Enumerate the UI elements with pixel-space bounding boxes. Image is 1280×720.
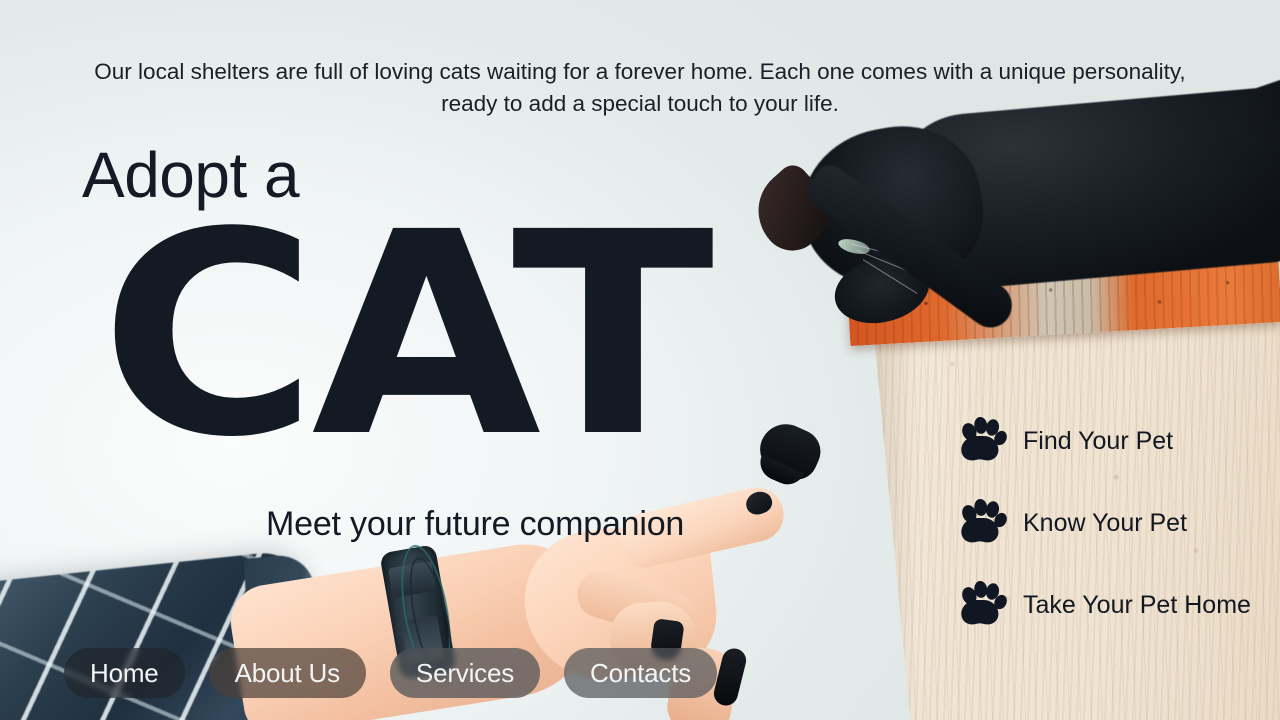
feature-item[interactable]: Find Your Pet (955, 414, 1255, 468)
nav-item-about-us[interactable]: About Us (209, 648, 366, 698)
feature-label: Take Your Pet Home (1023, 591, 1251, 619)
main-navigation: Home About Us Services Contacts (64, 648, 717, 698)
cat-eye (837, 236, 871, 256)
feature-label: Find Your Pet (1023, 427, 1173, 455)
nav-item-services[interactable]: Services (390, 648, 540, 698)
feature-label: Know Your Pet (1023, 509, 1187, 537)
feature-list: Find Your Pet Know Your Pet (955, 414, 1255, 632)
paw-print-icon (955, 414, 1009, 468)
hero-headline: CAT (100, 208, 708, 466)
hero-tagline: Meet your future companion (266, 505, 684, 544)
column-shadow (860, 286, 918, 720)
hero-poster: Our local shelters are full of loving ca… (0, 0, 1280, 720)
feature-item[interactable]: Take Your Pet Home (955, 578, 1255, 632)
nav-item-contacts[interactable]: Contacts (564, 648, 717, 698)
hero-kicker: Adopt a (82, 143, 299, 207)
paw-print-icon (955, 496, 1009, 550)
hero-description: Our local shelters are full of loving ca… (90, 56, 1190, 120)
cat-whisker (851, 244, 919, 262)
feature-item[interactable]: Know Your Pet (955, 496, 1255, 550)
paw-print-icon (955, 578, 1009, 632)
nav-item-home[interactable]: Home (64, 648, 185, 698)
cat-head (789, 114, 994, 303)
cat-ear (740, 159, 843, 262)
cat-whisker (857, 250, 928, 279)
